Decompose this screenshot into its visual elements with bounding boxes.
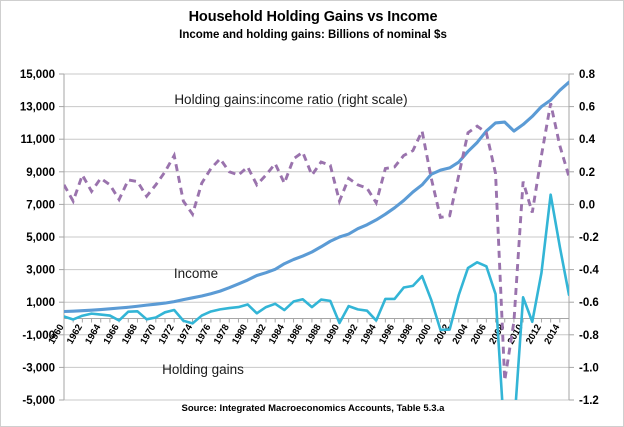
x-axis-labels: 1960196219641966196819701972197419761978…	[47, 322, 563, 346]
x-axis-label: 1984	[267, 322, 287, 346]
y-axis-left-label: 7,000	[26, 199, 55, 211]
y-axis-left-label: 5,000	[26, 232, 55, 244]
y-axis-left-label: -3,000	[22, 362, 55, 374]
y-axis-right-label: 0.0	[579, 199, 595, 211]
y-axis-right-label: -1.0	[579, 362, 599, 374]
y-axis-right-label: -0.8	[579, 330, 599, 342]
y-axis-left-label: 15,000	[20, 69, 55, 81]
x-axis-ticks	[64, 319, 569, 323]
y-axis-right-label: -0.2	[579, 232, 599, 244]
series-line-holding-gains	[64, 195, 569, 427]
source-note: Source: Integrated Macroeconomics Accoun…	[1, 403, 624, 414]
data-series	[64, 82, 569, 427]
series-line-income	[64, 82, 569, 311]
y-axis-left-labels: 15,00013,00011,0009,0007,0005,0003,0001,…	[20, 69, 64, 407]
x-axis-label: 1964	[83, 322, 103, 346]
annotation-gains-label: Holding gains	[162, 362, 244, 377]
y-axis-left-label: 11,000	[20, 134, 55, 146]
x-axis-label: 2014	[542, 322, 562, 346]
x-axis-label: 1974	[175, 322, 195, 346]
y-axis-right-label: 0.4	[579, 134, 596, 146]
x-axis-label: 1994	[359, 322, 379, 346]
y-axis-left-label: 9,000	[26, 167, 55, 179]
y-axis-right-labels: 0.80.60.40.20.0-0.2-0.4-0.6-0.8-1.0-1.2	[569, 69, 599, 407]
annotation-income-label: Income	[174, 266, 218, 281]
y-axis-right-label: 0.2	[579, 167, 595, 179]
chart-container: Household Holding Gains vs Income Income…	[0, 0, 624, 427]
y-axis-left-label: 1,000	[26, 297, 55, 309]
y-axis-right-label: 0.8	[579, 69, 596, 81]
y-axis-right-label: -0.6	[579, 297, 599, 309]
plot-area: 15,00013,00011,0009,0007,0005,0003,0001,…	[1, 1, 624, 427]
y-axis-left-label: 13,000	[20, 102, 55, 114]
y-axis-left-label: 3,000	[26, 265, 55, 277]
annotation-ratio-label: Holding gains:income ratio (right scale)	[174, 92, 407, 107]
y-axis-right-label: -0.4	[579, 265, 599, 277]
y-axis-right-label: 0.6	[579, 102, 595, 114]
x-axis-label: 2004	[451, 322, 471, 346]
